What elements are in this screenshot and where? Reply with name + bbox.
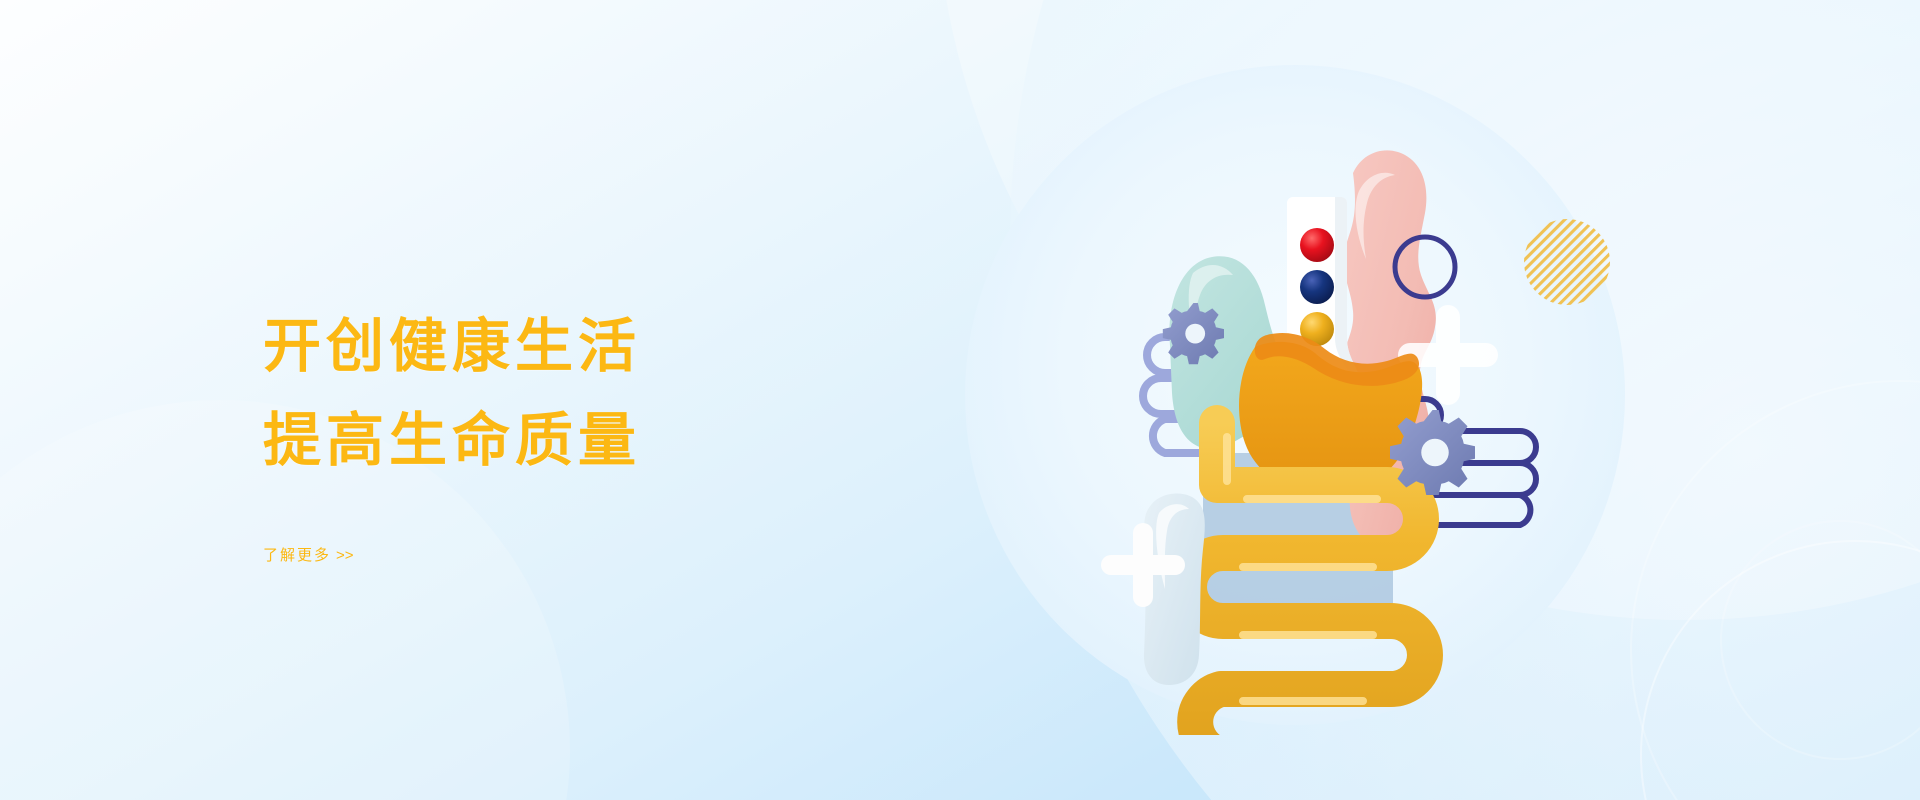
decorative-ring-3 <box>1720 520 1920 760</box>
vial-dot-navy <box>1300 270 1334 304</box>
gear-small-icon <box>1163 303 1224 364</box>
decorative-ring-2 <box>1630 380 1920 800</box>
decorative-ring-1 <box>1640 540 1920 800</box>
gear-large-icon <box>1390 410 1475 495</box>
learn-more-link[interactable]: 了解更多>> <box>263 544 354 565</box>
learn-more-label: 了解更多 <box>263 547 331 564</box>
chevron-double-right-icon: >> <box>336 547 354 564</box>
hero-banner: 开创健康生活 提高生命质量 了解更多>> <box>0 0 1920 800</box>
pale-blue-tube <box>1144 493 1205 685</box>
hero-copy: 开创健康生活 提高生命质量 了解更多>> <box>263 300 883 565</box>
headline-line-2: 提高生命质量 <box>263 394 883 488</box>
vial-dot-red <box>1300 228 1334 262</box>
headline-line-1: 开创健康生活 <box>263 300 883 394</box>
digestive-health-illustration <box>955 55 1635 735</box>
